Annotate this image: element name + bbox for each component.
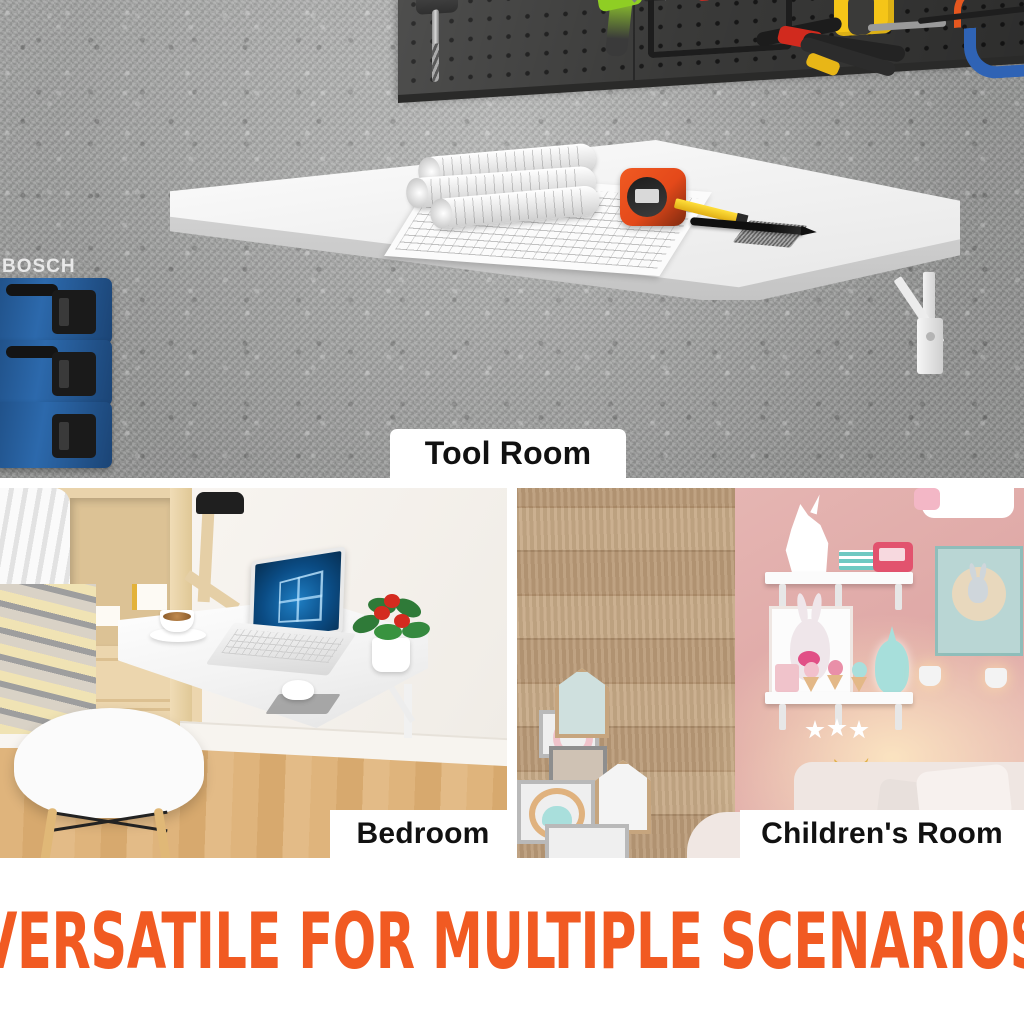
tool-case [0,402,112,468]
wall-sconce-light [919,666,941,686]
toy-jar [775,664,799,692]
tool-case [0,340,112,406]
white-shelf-upper [765,572,913,584]
tool-case-brand-label: BOSCH [2,256,76,278]
ice-cream-toy [851,662,867,692]
ice-cream-toy [827,660,843,690]
tool-case: BOSCH [0,278,112,344]
storage-box [545,824,629,858]
tool-case-handle [6,346,58,358]
white-shelf-lower [765,692,913,704]
shelf-bracket [779,704,786,730]
label-bedroom: Bedroom [330,810,516,858]
tape-measure [620,168,686,226]
chair-leg [154,808,172,858]
chair-leg [40,808,58,858]
gift-box [132,584,167,610]
computer-mouse [282,680,314,700]
ice-cream-toy [803,662,819,692]
tool-room-panel: BOSCH [0,0,1024,478]
folding-bracket [905,272,969,370]
shelf-bracket [895,584,902,610]
desk-lamp-shade [196,492,244,514]
label-tool-room: Tool Room [390,429,626,478]
shelf-bracket [895,704,902,730]
potted-plant [352,592,432,648]
label-childrens-room: Children's Room [740,810,1024,858]
ceiling-lamp [922,488,1014,518]
coffee-cup [160,610,194,632]
toy-radio [873,542,913,572]
drill-bit-icon [432,9,439,82]
gift-box [92,606,120,626]
childrens-room-panel [517,488,1024,858]
tool-case-latch [52,352,96,396]
headline-text: VERSATILE FOR MULTIPLE SCENARIOS [0,896,1024,987]
bunny-poster [935,546,1023,656]
hacksaw-frame-icon [648,0,792,58]
bedroom-panel [0,488,507,858]
wall-sconce-light [985,668,1007,688]
headline-footer: VERSATILE FOR MULTIPLE SCENARIOS [0,858,1024,1024]
folding-bracket [396,684,422,742]
white-chair [8,708,208,858]
yellow-clamp-icon [834,0,894,37]
tool-case-latch [52,290,96,334]
blue-tool-cases: BOSCH [0,278,120,478]
chair-seat [14,708,204,818]
bracket-wall-plate [917,318,943,374]
scenario-panels [0,488,1024,858]
tape-measure-face [627,177,667,217]
product-marketing-image: BOSCH [0,0,1024,1024]
pineapple-lamp [875,640,909,694]
tool-case-handle [6,284,58,296]
tool-case-latch [52,414,96,458]
